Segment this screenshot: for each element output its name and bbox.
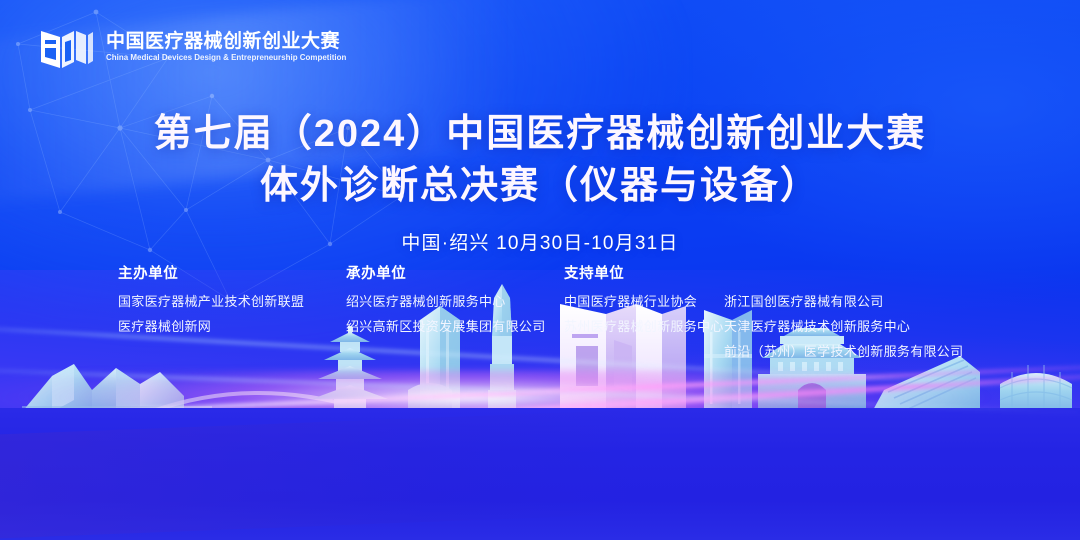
organizer-header: 承办单位 — [346, 264, 564, 284]
organizer-header: 主办单位 — [118, 264, 346, 284]
event-location-date: 中国·绍兴 10月30日-10月31日 — [0, 228, 1080, 255]
logo-chinese-name: 中国医疗器械创新创业大赛 — [106, 32, 354, 52]
organizer-item: 绍兴医疗器械创新服务中心 — [346, 289, 564, 314]
organizer-column-organizer: 承办单位 绍兴医疗器械创新服务中心 绍兴高新区投资发展集团有限公司 — [346, 264, 564, 364]
organizer-item: 中国医疗器械行业协会 — [564, 289, 724, 314]
competition-logo: 中国医疗器械创新创业大赛 China Medical Devices Desig… — [38, 20, 354, 74]
organizer-header: 支持单位 — [564, 264, 724, 284]
event-banner: 中国医疗器械创新创业大赛 China Medical Devices Desig… — [0, 0, 1080, 540]
title-block: 第七届（2024）中国医疗器械创新创业大赛 体外诊断总决赛（仪器与设备） 中国·… — [0, 108, 1080, 255]
organizer-item: 绍兴高新区投资发展集团有限公司 — [346, 314, 564, 339]
organizer-column-supporter: 支持单位 中国医疗器械行业协会 苏州医疗器械创新服务中心 — [564, 264, 724, 364]
organizer-columns: 主办单位 国家医疗器械产业技术创新联盟 医疗器械创新网 承办单位 绍兴医疗器械创… — [118, 264, 1020, 364]
organizer-column-supporter-continued: 浙江国创医疗器械有限公司 天津医疗器械技术创新服务中心 前沿（苏州）医学技术创新… — [724, 264, 984, 364]
organizer-item: 医疗器械创新网 — [118, 314, 346, 339]
organizer-item: 前沿（苏州）医学技术创新服务有限公司 — [724, 339, 984, 364]
organizer-item: 国家医疗器械产业技术创新联盟 — [118, 289, 346, 314]
title-line-2: 体外诊断总决赛（仪器与设备） — [0, 160, 1080, 212]
organizer-item: 浙江国创医疗器械有限公司 — [724, 289, 984, 314]
organizer-column-host: 主办单位 国家医疗器械产业技术创新联盟 医疗器械创新网 — [118, 264, 346, 364]
organizer-item: 苏州医疗器械创新服务中心 — [564, 314, 724, 339]
logo-english-name: China Medical Devices Design & Entrepren… — [106, 54, 346, 63]
title-line-1: 第七届（2024）中国医疗器械创新创业大赛 — [0, 108, 1080, 160]
organizer-item: 天津医疗器械技术创新服务中心 — [724, 314, 984, 339]
open-book-window-logo-icon — [38, 20, 94, 74]
column-spacer — [724, 264, 984, 289]
